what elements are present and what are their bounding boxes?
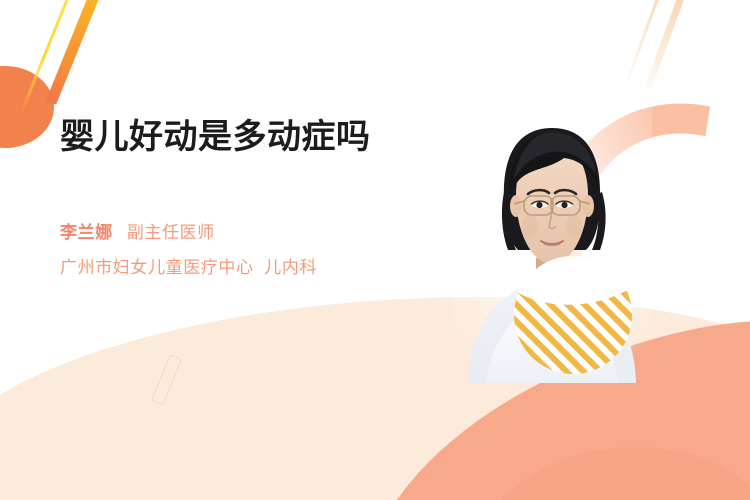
striped-circle-decoration-icon — [514, 256, 632, 374]
outlined-stripe-decoration-icon — [151, 354, 182, 405]
doctor-byline: 李兰娜 副主任医师 广州市妇女儿童医疗中心 儿内科 — [60, 218, 430, 278]
top-left-thin-stripe-icon — [20, 0, 71, 114]
top-left-thick-stripe-icon — [46, 0, 109, 105]
text-content-block: 婴儿好动是多动症吗 李兰娜 副主任医师 广州市妇女儿童医疗中心 儿内科 — [60, 116, 430, 278]
video-cover-card: 婴儿好动是多动症吗 李兰娜 副主任医师 广州市妇女儿童医疗中心 儿内科 — [0, 0, 750, 500]
orange-circle-decoration-icon — [0, 66, 54, 148]
top-right-thick-stripe-icon — [645, 0, 695, 89]
doctor-name-row: 李兰娜 副主任医师 — [60, 218, 430, 243]
doctor-name: 李兰娜 — [60, 218, 113, 243]
salmon-wave-secondary-decoration — [462, 433, 750, 500]
page-title: 婴儿好动是多动症吗 — [60, 116, 430, 160]
doctor-organization: 广州市妇女儿童医疗中心 儿内科 — [60, 253, 430, 278]
top-right-thin-stripe-icon — [626, 0, 666, 81]
doctor-rank: 副主任医师 — [127, 218, 215, 243]
